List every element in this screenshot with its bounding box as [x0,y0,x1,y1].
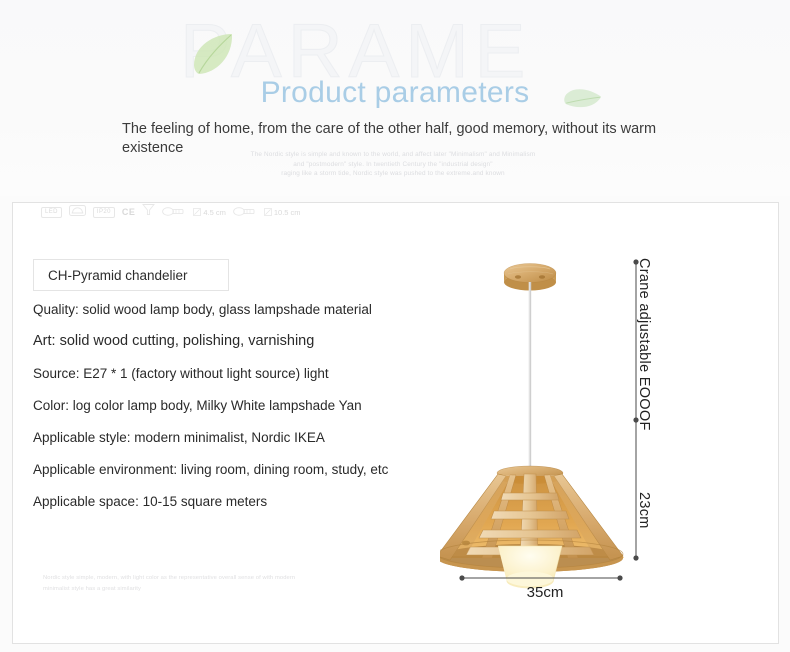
certification-badge-strip: LED IP20 CE [41,203,301,221]
watermark-paragraph-line: raging like a storm tide, Nordic style w… [228,169,558,179]
bulb-socket-icon [162,203,186,221]
measure-icon [193,208,201,216]
diameter-10-5-cm: 10.5 cm [264,208,301,217]
watermark-paragraph: The Nordic style is simple and known to … [228,150,558,179]
slat-cutout [462,541,470,546]
funnel-shade-icon [142,203,155,221]
spec-row-color: Color: log color lamp body, Milky White … [33,397,473,414]
product-illustration [440,240,780,612]
diameter-4-5-cm: 4.5 cm [193,208,226,217]
page-title: Product parameters [0,76,790,110]
bulb-socket-icon [233,203,257,221]
dome-lamp-icon [69,203,86,221]
spec-row-space: Applicable space: 10-15 square meters [33,493,473,510]
led-badge: LED [41,207,62,218]
suspension-cord [529,282,530,472]
product-model-chip: CH-Pyramid chandelier [33,259,229,291]
product-model-label: CH-Pyramid chandelier [48,268,188,283]
footer-note: Nordic style simple, modern, with light … [43,573,313,595]
screw-hole [515,275,521,278]
spec-row-style: Applicable style: modern minimalist, Nor… [33,429,473,446]
spec-row-environment: Applicable environment: living room, din… [33,461,473,478]
specification-list: Quality: solid wood lamp body, glass lam… [33,301,473,525]
ce-badge: CE [122,207,136,217]
dimension-label-width: 35cm [455,584,635,601]
spec-row-art: Art: solid wood cutting, polishing, varn… [33,333,473,350]
product-parameters-page: PARAME Product parameters The feeling of… [0,0,790,652]
leaf-icon [190,31,236,82]
spec-row-source: Source: E27 * 1 (factory without light s… [33,365,473,382]
dimension-value: 10.5 cm [274,208,301,217]
screw-hole [539,275,545,278]
spec-row-quality: Quality: solid wood lamp body, glass lam… [33,301,373,318]
dimension-label-crane: Crane adjustable EOOOF [636,258,652,431]
measure-icon [264,208,272,216]
ip20-badge: IP20 [93,207,115,218]
glass-diffuser [498,546,562,589]
watermark-paragraph-line: The Nordic style is simple and known to … [228,150,558,160]
dimension-label-height: 23cm [636,492,652,529]
page-header: PARAME Product parameters The feeling of… [0,0,790,196]
dimension-value: 4.5 cm [203,208,226,217]
watermark-paragraph-line: and "postmodern" style. In twentieth Cen… [228,160,558,170]
